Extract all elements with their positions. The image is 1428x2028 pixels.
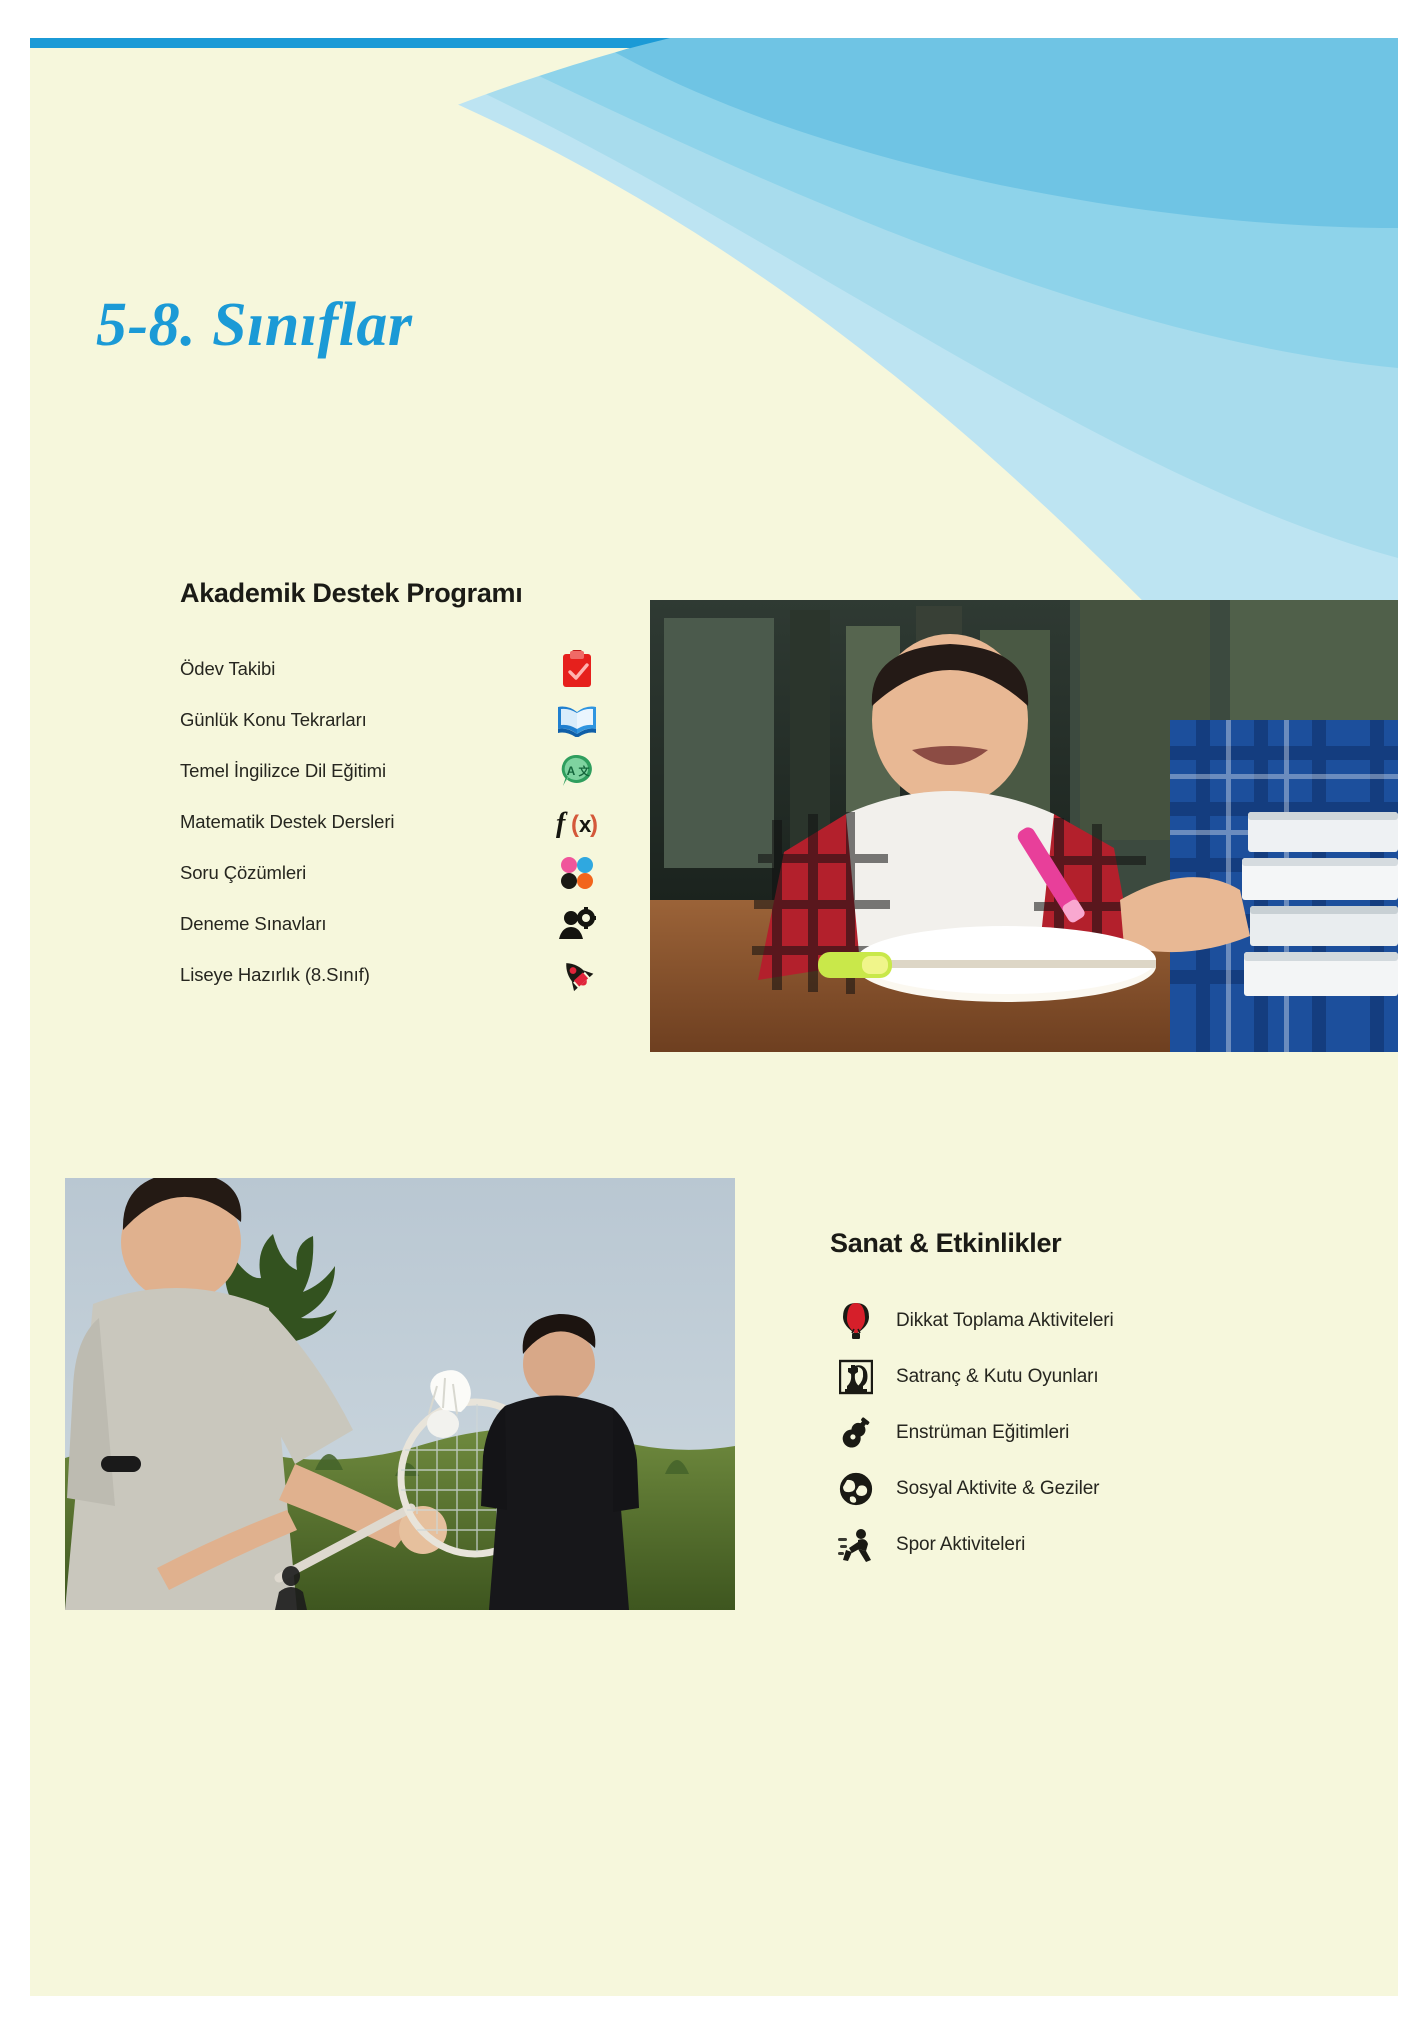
wave-band-3 [460, 38, 1398, 368]
list-item: Dikkat Toplama Aktiviteleri [830, 1293, 1290, 1349]
wave-band-1 [30, 38, 670, 538]
art-item-label: Enstrüman Eğitimleri [896, 1422, 1069, 1444]
brochure-page: 5-8. Sınıflar [0, 0, 1428, 2028]
wave-band-4 [360, 38, 1398, 558]
list-item: Sosyal Aktivite & Geziler [830, 1461, 1290, 1517]
academic-list: Ödev Takibi Günlük Konu Tekrarları [180, 643, 600, 1000]
chess-pieces-icon [830, 1357, 882, 1397]
four-color-dots-icon [554, 853, 600, 893]
list-item: Matematik Destek Dersleri f ( x ) [180, 796, 600, 847]
person-gear-icon [554, 904, 600, 944]
section-academic: Akademik Destek Programı Ödev Takibi [180, 578, 600, 1000]
open-book-icon [554, 700, 600, 740]
rocket-icon [554, 955, 600, 995]
academic-item-label: Temel İngilizce Dil Eğitimi [180, 760, 386, 782]
svg-text:): ) [590, 811, 598, 838]
section-academic-heading: Akademik Destek Programı [180, 578, 600, 609]
running-person-icon [830, 1525, 882, 1565]
photo-sport-illustration [65, 1178, 735, 1610]
speech-balloon-language-icon: A 文 [554, 751, 600, 791]
academic-item-label: Liseye Hazırlık (8.Sınıf) [180, 964, 370, 986]
section-art-heading: Sanat & Etkinlikler [830, 1228, 1290, 1259]
section-art: Sanat & Etkinlikler Dikkat Toplama Aktiv… [830, 1228, 1290, 1573]
guitar-icon [830, 1413, 882, 1453]
svg-text:f: f [556, 808, 568, 838]
list-item: Ödev Takibi [180, 643, 600, 694]
wave-band-5 [290, 38, 1398, 638]
brochure-sheet: 5-8. Sınıflar [30, 38, 1398, 1996]
svg-text:A: A [567, 764, 576, 778]
function-fx-icon: f ( x ) [554, 802, 600, 842]
globe-icon [830, 1469, 882, 1509]
academic-item-label: Günlük Konu Tekrarları [180, 709, 367, 731]
academic-item-label: Ödev Takibi [180, 658, 275, 680]
art-item-label: Satranç & Kutu Oyunları [896, 1366, 1099, 1388]
list-item: Günlük Konu Tekrarları [180, 694, 600, 745]
art-item-label: Spor Aktiviteleri [896, 1534, 1025, 1556]
art-list: Dikkat Toplama Aktiviteleri Satranç & Ku… [830, 1293, 1290, 1573]
photo-study [650, 600, 1398, 1052]
svg-text:(: ( [571, 811, 579, 838]
page-title: 5-8. Sınıflar [96, 290, 413, 361]
list-item: Liseye Hazırlık (8.Sınıf) [180, 949, 600, 1000]
photo-study-illustration [650, 600, 1398, 1052]
list-item: Enstrüman Eğitimleri [830, 1405, 1290, 1461]
svg-text:文: 文 [579, 764, 591, 778]
hot-air-balloon-icon [830, 1301, 882, 1341]
clipboard-check-icon [554, 649, 600, 689]
list-item: Spor Aktiviteleri [830, 1517, 1290, 1573]
academic-item-label: Deneme Sınavları [180, 913, 326, 935]
art-item-label: Sosyal Aktivite & Geziler [896, 1478, 1099, 1500]
photo-sport [65, 1178, 735, 1610]
list-item: Satranç & Kutu Oyunları [830, 1349, 1290, 1405]
list-item: Temel İngilizce Dil Eğitimi A 文 [180, 745, 600, 796]
list-item: Deneme Sınavları [180, 898, 600, 949]
academic-item-label: Matematik Destek Dersleri [180, 811, 394, 833]
academic-item-label: Soru Çözümleri [180, 862, 306, 884]
wave-band-2 [590, 38, 1398, 228]
list-item: Soru Çözümleri [180, 847, 600, 898]
art-item-label: Dikkat Toplama Aktiviteleri [896, 1310, 1114, 1332]
